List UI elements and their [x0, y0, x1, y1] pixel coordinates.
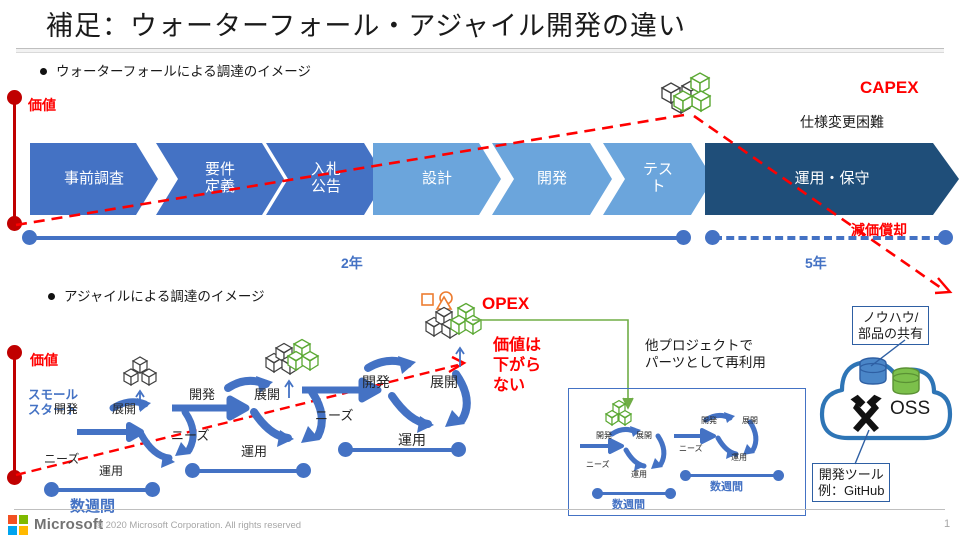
cube-cluster-icon-1 [118, 358, 162, 390]
callout-dev-tools: 開発ツール 例：GitHub [812, 463, 890, 502]
cycle3-label-deploy: 展開 [430, 372, 458, 392]
cycle3-label-dev: 開発 [362, 372, 390, 392]
bullet-dot-icon [48, 293, 55, 300]
reuse-caption: 他プロジェクトで パーツとして再利用 [645, 338, 766, 372]
cycle3-label-needs: ニーズ [315, 405, 353, 424]
cube-uplink-arrow-1 [135, 388, 145, 410]
reuse1-sprint-dot-right [665, 488, 676, 499]
reuse2-label-deploy: 展開 [742, 415, 758, 426]
database-cylinder-icon-green [891, 367, 925, 401]
cube-uplink-arrow-2 [284, 378, 294, 398]
cycle2-label-deploy: 展開 [254, 384, 280, 403]
microsoft-logo-icon [8, 515, 28, 535]
sprint1-bar [52, 488, 152, 492]
callout-devtools-leader [851, 430, 881, 466]
reuse1-label-deploy: 展開 [636, 430, 652, 441]
page-number: 1 [944, 518, 950, 530]
cube-uplink-arrow-3 [455, 345, 465, 367]
cycle2-label-ops: 運用 [241, 441, 267, 460]
callout-knowhow-leader [869, 340, 909, 368]
sprint2-dot-right [296, 463, 311, 478]
slide-canvas: 補足：ウォーターフォール・アジャイル開発の違い ウォーターフォールによる調達のイ… [0, 0, 959, 535]
crossed-hammers-icon [845, 395, 889, 433]
agile-section-heading: アジャイルによる調達のイメージ [48, 285, 265, 305]
cycle3-label-ops: 運用 [398, 430, 426, 450]
page-title: 補足：ウォーターフォール・アジャイル開発の違い [46, 4, 686, 43]
reuse2-label-needs: ニーズ [679, 443, 703, 454]
cycle1-label-dev: 開発 [54, 400, 78, 417]
timeline-dot-mid-left [676, 230, 691, 245]
reuse2-label-dev: 開発 [701, 415, 717, 426]
timeline-dot-end [938, 230, 953, 245]
timeline-bar-2years [30, 236, 685, 240]
microsoft-wordmark: Microsoft [34, 516, 103, 533]
timeline-bar-5years [714, 236, 942, 240]
spec-change-label: 仕様変更困難 [800, 112, 884, 132]
cycle1-label-needs: ニーズ [44, 450, 79, 467]
reuse2-label-ops: 運用 [731, 452, 747, 463]
reuse2-sprint-dot-right [773, 470, 784, 481]
timeline-label-5years: 5年 [805, 253, 827, 273]
cycle2-label-needs: ニーズ [171, 425, 209, 444]
value-not-drop-label: 価値は 下がら ない [493, 336, 541, 396]
sprint3-dot-right [451, 442, 466, 457]
reuse1-label-ops: 運用 [631, 469, 647, 480]
oss-label: OSS [890, 398, 930, 420]
reuse1-label-needs: ニーズ [586, 459, 610, 470]
sprint1-dot-right [145, 482, 160, 497]
reuse1-sprint-bar [598, 492, 670, 495]
capex-label: CAPEX [860, 78, 919, 98]
reuse2-sprint-bar [686, 474, 778, 477]
opex-label: OPEX [482, 294, 529, 314]
reuse2-sprint-label: 数週間 [710, 478, 743, 494]
sprint2-bar [193, 469, 303, 473]
waterfall-value-curve [0, 60, 959, 240]
cube-cluster-icon-reuse [602, 402, 636, 428]
sprint1-label: 数週間 [70, 495, 115, 516]
copyright-text: © 2020 Microsoft Corporation. All rights… [96, 520, 301, 531]
reuse1-label-dev: 開発 [596, 430, 612, 441]
title-divider [16, 48, 944, 53]
footer-divider [14, 509, 945, 510]
sprint3-bar [346, 448, 458, 452]
cycle2-label-dev: 開発 [189, 384, 215, 403]
timeline-label-2years: 2年 [341, 253, 363, 273]
cycle1-label-ops: 運用 [99, 462, 123, 479]
cycle1-label-deploy: 展開 [112, 400, 136, 417]
